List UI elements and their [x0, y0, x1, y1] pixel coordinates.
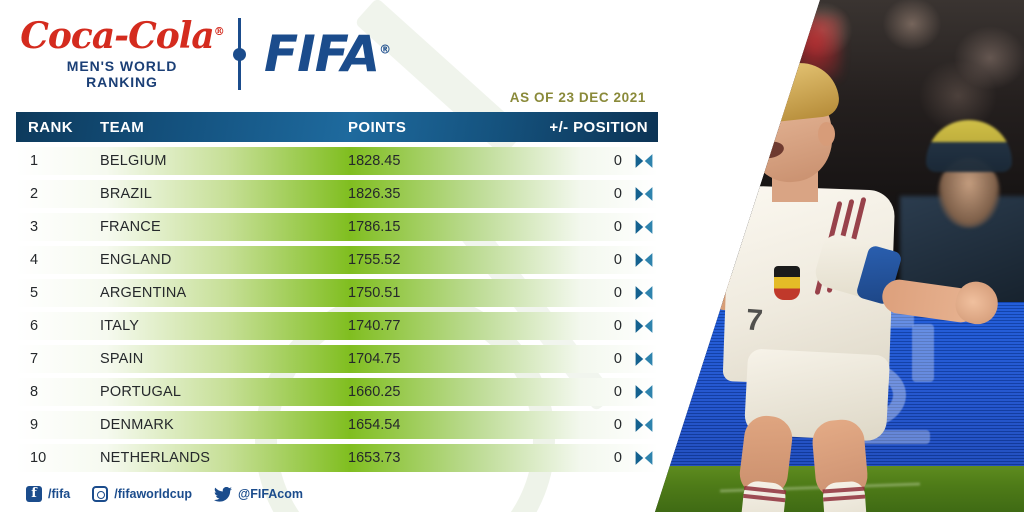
coca-cola-wordmark: Coca-Cola®: [20, 18, 224, 54]
table-row[interactable]: 9DENMARK1654.540: [16, 411, 658, 439]
cell-team: PORTUGAL: [100, 384, 348, 400]
cell-points: 1654.54: [348, 417, 518, 433]
table-row[interactable]: 10NETHERLANDS1653.730: [16, 444, 658, 472]
instagram-handle: /fifaworldcup: [114, 487, 192, 501]
cell-position-icon: [630, 316, 658, 336]
cell-position-icon: [630, 283, 658, 303]
cell-rank: 10: [16, 450, 100, 466]
subtitle-line-1: MEN'S WORLD: [67, 58, 177, 74]
cell-rank: 9: [16, 417, 100, 433]
player-eyebrow: [754, 112, 780, 121]
ranking-subtitle: MEN'S WORLD RANKING: [67, 58, 177, 90]
column-header-team: TEAM: [100, 119, 348, 136]
cell-points: 1828.45: [348, 153, 518, 169]
instagram-icon: [92, 486, 108, 502]
celebrating-player: 7: [650, 30, 980, 502]
table-row[interactable]: 8PORTUGAL1660.250: [16, 378, 658, 406]
cell-points: 1755.52: [348, 252, 518, 268]
player-ear: [818, 122, 835, 146]
cell-position-icon: [630, 349, 658, 369]
cell-rank: 6: [16, 318, 100, 334]
social-link-instagram[interactable]: /fifaworldcup: [92, 486, 192, 502]
cell-position-delta: 0: [518, 318, 630, 334]
social-link-twitter[interactable]: @FIFAcom: [214, 487, 303, 502]
cell-team: BELGIUM: [100, 153, 348, 169]
no-change-arrows-icon: [634, 349, 654, 369]
fifa-ranking-graphic: 7: [0, 0, 1024, 512]
cell-position-delta: 0: [518, 186, 630, 202]
ranking-content: Coca-Cola® MEN'S WORLD RANKING FIFA® AS …: [0, 0, 660, 512]
cell-team: FRANCE: [100, 219, 348, 235]
cell-position-delta: 0: [518, 384, 630, 400]
fifa-wordmark: FIFA: [264, 25, 379, 83]
subtitle-line-2: RANKING: [67, 74, 177, 90]
no-change-arrows-icon: [634, 184, 654, 204]
table-body: 1BELGIUM1828.4502BRAZIL1826.3503FRANCE17…: [16, 147, 658, 472]
cell-points: 1660.25: [348, 384, 518, 400]
cell-team: NETHERLANDS: [100, 450, 348, 466]
cell-position-delta: 0: [518, 285, 630, 301]
cell-position-delta: 0: [518, 417, 630, 433]
cell-position-icon: [630, 151, 658, 171]
table-row[interactable]: 7SPAIN1704.750: [16, 345, 658, 373]
cell-rank: 5: [16, 285, 100, 301]
cell-position-icon: [630, 448, 658, 468]
cell-rank: 8: [16, 384, 100, 400]
no-change-arrows-icon: [634, 448, 654, 468]
coca-cola-logo: Coca-Cola® MEN'S WORLD RANKING: [22, 18, 222, 90]
twitter-icon: [214, 487, 232, 502]
coca-cola-text: Coca-Cola: [20, 15, 214, 57]
twitter-handle: @FIFAcom: [238, 487, 303, 501]
as-of-date: AS OF 23 DEC 2021: [510, 90, 646, 105]
jersey-crest: [774, 266, 800, 300]
cell-team: SPAIN: [100, 351, 348, 367]
no-change-arrows-icon: [634, 217, 654, 237]
column-header-points: POINTS: [348, 119, 518, 136]
player-left-sock: [739, 480, 787, 512]
table-row[interactable]: 6ITALY1740.770: [16, 312, 658, 340]
cell-team: BRAZIL: [100, 186, 348, 202]
cell-position-icon: [630, 184, 658, 204]
cell-team: ITALY: [100, 318, 348, 334]
cell-rank: 3: [16, 219, 100, 235]
cell-position-delta: 0: [518, 450, 630, 466]
table-row[interactable]: 5ARGENTINA1750.510: [16, 279, 658, 307]
cell-position-delta: 0: [518, 351, 630, 367]
cell-position-icon: [630, 250, 658, 270]
jersey-number: 7: [745, 303, 764, 338]
cell-rank: 4: [16, 252, 100, 268]
cell-team: ENGLAND: [100, 252, 348, 268]
table-row[interactable]: 1BELGIUM1828.450: [16, 147, 658, 175]
no-change-arrows-icon: [634, 283, 654, 303]
cell-position-delta: 0: [518, 252, 630, 268]
cell-team: DENMARK: [100, 417, 348, 433]
logo-divider: [222, 16, 256, 92]
social-links: f /fifa /fifaworldcup @FIFAcom: [26, 486, 315, 502]
cell-rank: 2: [16, 186, 100, 202]
cell-position-icon: [630, 382, 658, 402]
logo-lockup: Coca-Cola® MEN'S WORLD RANKING FIFA®: [22, 16, 390, 92]
cell-rank: 7: [16, 351, 100, 367]
cell-points: 1786.15: [348, 219, 518, 235]
table-row[interactable]: 4ENGLAND1755.520: [16, 246, 658, 274]
column-header-rank: RANK: [16, 119, 100, 136]
divider-dot: [233, 48, 246, 61]
table-header-row: RANK TEAM POINTS +/- POSITION: [16, 112, 658, 142]
facebook-handle: /fifa: [48, 487, 70, 501]
cell-rank: 1: [16, 153, 100, 169]
cell-points: 1826.35: [348, 186, 518, 202]
social-link-facebook[interactable]: f /fifa: [26, 486, 70, 502]
sock-band: [744, 486, 786, 494]
no-change-arrows-icon: [634, 316, 654, 336]
cell-position-delta: 0: [518, 219, 630, 235]
cell-points: 1750.51: [348, 285, 518, 301]
column-header-position: +/- POSITION: [518, 119, 658, 136]
cell-points: 1704.75: [348, 351, 518, 367]
no-change-arrows-icon: [634, 415, 654, 435]
cell-team: ARGENTINA: [100, 285, 348, 301]
sock-band: [823, 495, 865, 502]
no-change-arrows-icon: [634, 151, 654, 171]
facebook-icon: f: [26, 486, 42, 502]
no-change-arrows-icon: [634, 382, 654, 402]
player-hair: [743, 59, 840, 124]
sock-band: [743, 494, 785, 502]
player-right-sock: [822, 481, 868, 512]
fifa-logo: FIFA®: [264, 29, 390, 79]
table-row[interactable]: 3FRANCE1786.150: [16, 213, 658, 241]
cell-position-delta: 0: [518, 153, 630, 169]
no-change-arrows-icon: [634, 250, 654, 270]
cell-points: 1740.77: [348, 318, 518, 334]
cell-points: 1653.73: [348, 450, 518, 466]
table-row[interactable]: 2BRAZIL1826.350: [16, 180, 658, 208]
ranking-table: RANK TEAM POINTS +/- POSITION 1BELGIUM18…: [16, 112, 658, 472]
fifa-registered-mark: ®: [379, 42, 390, 56]
cell-position-icon: [630, 217, 658, 237]
sock-band: [823, 487, 865, 494]
cell-position-icon: [630, 415, 658, 435]
